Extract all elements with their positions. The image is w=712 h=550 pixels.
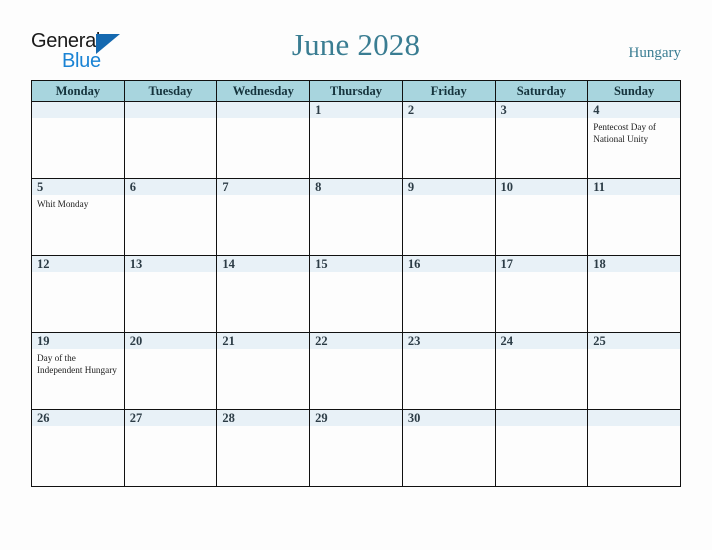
weekday-header-sunday: Sunday <box>588 81 681 102</box>
day-number: 5 <box>32 179 124 195</box>
calendar-day-cell[interactable]: 19Day of the Independent Hungary <box>32 333 125 410</box>
day-number: 6 <box>125 179 217 195</box>
day-number: 25 <box>588 333 680 349</box>
calendar-day-cell[interactable]: 17 <box>495 256 588 333</box>
day-number: 2 <box>403 102 495 118</box>
calendar-day-cell[interactable]: 2 <box>402 102 495 179</box>
day-number: 4 <box>588 102 680 118</box>
calendar-day-cell[interactable]: 21 <box>217 333 310 410</box>
calendar-day-cell[interactable]: 15 <box>310 256 403 333</box>
weekday-header-wednesday: Wednesday <box>217 81 310 102</box>
day-number: 10 <box>496 179 588 195</box>
country-label: Hungary <box>629 45 682 62</box>
calendar-body: 1234Pentecost Day of National Unity5Whit… <box>32 102 681 487</box>
day-number: 3 <box>496 102 588 118</box>
day-number <box>588 410 680 426</box>
calendar-day-cell[interactable]: 30 <box>402 410 495 487</box>
calendar-day-cell[interactable]: 20 <box>124 333 217 410</box>
page-title: June 2028 <box>0 27 712 63</box>
day-number: 29 <box>310 410 402 426</box>
calendar-week-row: 12131415161718 <box>32 256 681 333</box>
day-number: 26 <box>32 410 124 426</box>
calendar-day-cell[interactable]: 16 <box>402 256 495 333</box>
day-number: 12 <box>32 256 124 272</box>
page-header: General Blue June 2028 Hungary <box>0 0 712 78</box>
weekday-header-friday: Friday <box>402 81 495 102</box>
day-number <box>496 410 588 426</box>
calendar-day-cell[interactable]: 9 <box>402 179 495 256</box>
calendar-empty-cell <box>217 102 310 179</box>
day-number: 14 <box>217 256 309 272</box>
calendar-day-cell[interactable]: 10 <box>495 179 588 256</box>
calendar-day-cell[interactable]: 28 <box>217 410 310 487</box>
day-number: 16 <box>403 256 495 272</box>
calendar-empty-cell <box>124 102 217 179</box>
calendar-day-cell[interactable]: 7 <box>217 179 310 256</box>
calendar-day-cell[interactable]: 13 <box>124 256 217 333</box>
day-number: 23 <box>403 333 495 349</box>
day-number: 1 <box>310 102 402 118</box>
calendar-table: Monday Tuesday Wednesday Thursday Friday… <box>31 80 681 487</box>
day-number: 15 <box>310 256 402 272</box>
weekday-header-saturday: Saturday <box>495 81 588 102</box>
holiday-label: Pentecost Day of National Unity <box>588 118 680 145</box>
weekday-header-monday: Monday <box>32 81 125 102</box>
calendar-day-cell[interactable]: 23 <box>402 333 495 410</box>
calendar-week-row: 1234Pentecost Day of National Unity <box>32 102 681 179</box>
day-number: 21 <box>217 333 309 349</box>
day-number: 22 <box>310 333 402 349</box>
day-number: 30 <box>403 410 495 426</box>
day-number: 27 <box>125 410 217 426</box>
day-number <box>32 102 124 118</box>
day-number: 19 <box>32 333 124 349</box>
calendar-week-row: 19Day of the Independent Hungary20212223… <box>32 333 681 410</box>
calendar-empty-cell <box>32 102 125 179</box>
calendar-day-cell[interactable]: 14 <box>217 256 310 333</box>
day-number: 11 <box>588 179 680 195</box>
calendar-day-cell[interactable]: 12 <box>32 256 125 333</box>
calendar-day-cell[interactable]: 3 <box>495 102 588 179</box>
holiday-label: Day of the Independent Hungary <box>32 349 124 376</box>
calendar-week-row: 2627282930 <box>32 410 681 487</box>
day-number: 18 <box>588 256 680 272</box>
calendar-header-row: Monday Tuesday Wednesday Thursday Friday… <box>32 81 681 102</box>
calendar-week-row: 5Whit Monday67891011 <box>32 179 681 256</box>
calendar-day-cell[interactable]: 29 <box>310 410 403 487</box>
weekday-header-thursday: Thursday <box>310 81 403 102</box>
holiday-label: Whit Monday <box>32 195 124 211</box>
calendar-empty-cell <box>588 410 681 487</box>
calendar-day-cell[interactable]: 26 <box>32 410 125 487</box>
calendar-day-cell[interactable]: 4Pentecost Day of National Unity <box>588 102 681 179</box>
calendar-day-cell[interactable]: 25 <box>588 333 681 410</box>
calendar-day-cell[interactable]: 22 <box>310 333 403 410</box>
day-number: 13 <box>125 256 217 272</box>
day-number <box>125 102 217 118</box>
calendar-day-cell[interactable]: 5Whit Monday <box>32 179 125 256</box>
day-number: 24 <box>496 333 588 349</box>
calendar-day-cell[interactable]: 27 <box>124 410 217 487</box>
calendar-day-cell[interactable]: 1 <box>310 102 403 179</box>
calendar-day-cell[interactable]: 18 <box>588 256 681 333</box>
calendar-day-cell[interactable]: 8 <box>310 179 403 256</box>
calendar-day-cell[interactable]: 24 <box>495 333 588 410</box>
calendar-empty-cell <box>495 410 588 487</box>
day-number: 8 <box>310 179 402 195</box>
day-number: 20 <box>125 333 217 349</box>
day-number: 17 <box>496 256 588 272</box>
calendar-day-cell[interactable]: 11 <box>588 179 681 256</box>
day-number: 9 <box>403 179 495 195</box>
day-number: 28 <box>217 410 309 426</box>
calendar-day-cell[interactable]: 6 <box>124 179 217 256</box>
day-number: 7 <box>217 179 309 195</box>
weekday-header-tuesday: Tuesday <box>124 81 217 102</box>
day-number <box>217 102 309 118</box>
